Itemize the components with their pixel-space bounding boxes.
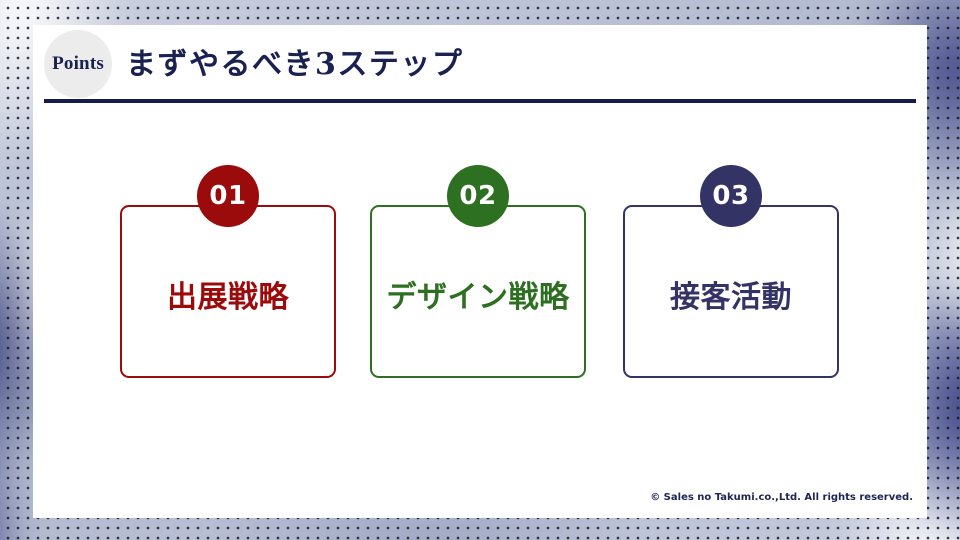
step-card-box-02[interactable]: デザイン戦略 <box>370 205 586 378</box>
step-number-label-02: 02 <box>459 181 496 211</box>
step-number-label-01: 01 <box>209 181 246 211</box>
step-card-list: 01 出展戦略 02 デザイン戦略 03 接客活動 <box>33 25 927 518</box>
step-number-badge-03: 03 <box>700 165 762 227</box>
step-card-box-03[interactable]: 接客活動 <box>623 205 839 378</box>
step-number-badge-02: 02 <box>447 165 509 227</box>
step-card-label-03: 接客活動 <box>670 272 792 316</box>
step-card-box-01[interactable]: 出展戦略 <box>120 205 336 378</box>
copyright-notice: © Sales no Takumi.co.,Ltd. All rights re… <box>650 492 913 503</box>
step-number-label-03: 03 <box>712 181 749 211</box>
step-card-02[interactable]: 02 デザイン戦略 <box>370 165 586 378</box>
content-panel: Points まずやるべき3ステップ 01 出展戦略 02 デザイン戦略 <box>33 25 927 518</box>
step-card-label-02: デザイン戦略 <box>387 272 570 316</box>
step-number-badge-01: 01 <box>197 165 259 227</box>
step-card-01[interactable]: 01 出展戦略 <box>120 165 336 378</box>
step-card-03[interactable]: 03 接客活動 <box>623 165 839 378</box>
slide-root: Points まずやるべき3ステップ 01 出展戦略 02 デザイン戦略 <box>0 0 960 540</box>
step-card-label-01: 出展戦略 <box>167 272 289 316</box>
